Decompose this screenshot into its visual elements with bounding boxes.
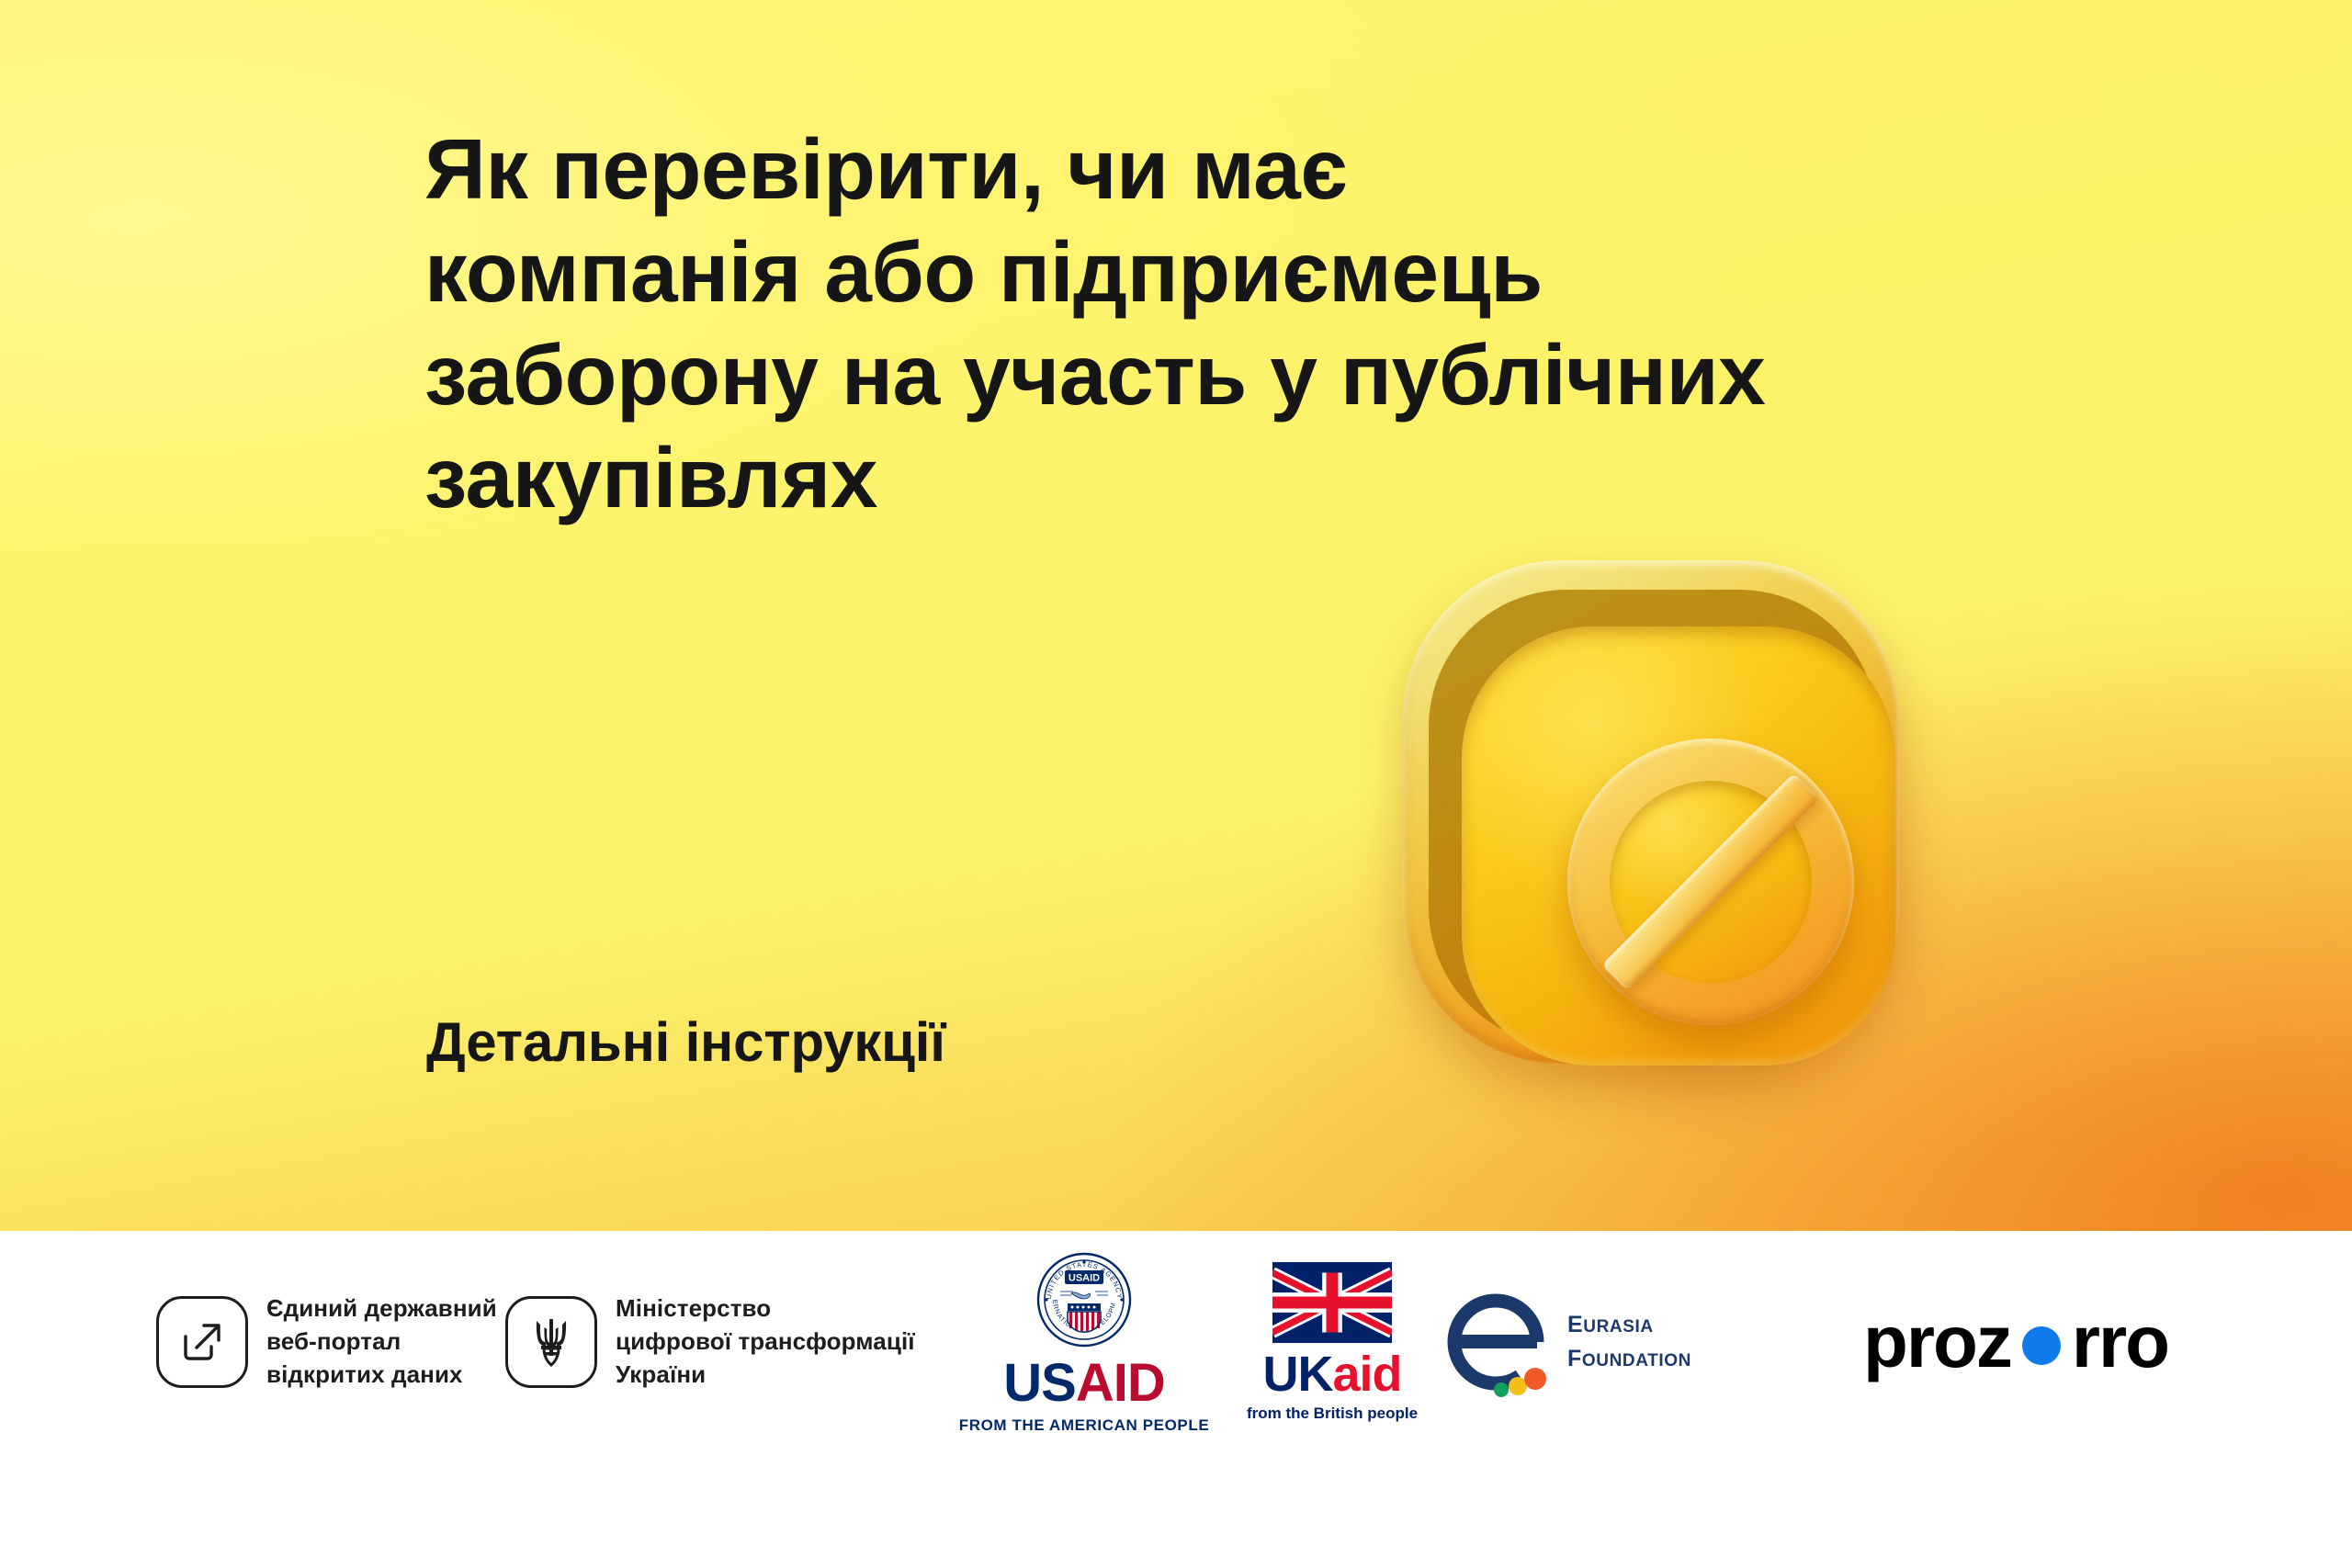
icon-inner-plate <box>1462 626 1895 1066</box>
icon-groove <box>1429 590 1877 1045</box>
logo-usaid[interactable]: UNITED STATES AGENCY INTERNATIONAL DEVEL… <box>946 1250 1222 1435</box>
logo-eurasia-foundation[interactable]: EURASIA FOUNDATION <box>1442 1285 1773 1399</box>
logo-ministry-digital-transformation[interactable]: Міністерство цифрової трансформації Укра… <box>505 1292 946 1392</box>
eurasia-e-mark-icon <box>1442 1285 1551 1399</box>
logo-open-data-portal-label: Єдиний державний веб-портал відкритих да… <box>266 1292 497 1392</box>
prozorro-dot-icon <box>2022 1326 2061 1365</box>
icon-outer-bevel <box>1403 560 1899 1064</box>
logo-open-data-portal[interactable]: Єдиний державний веб-портал відкритих да… <box>156 1292 505 1392</box>
ukaid-word-aid: aid <box>1332 1347 1401 1402</box>
prozorro-word-rro: rro <box>2072 1300 2168 1384</box>
usaid-word-aid: AID <box>1076 1353 1165 1413</box>
external-link-rounded-square-icon <box>156 1296 248 1388</box>
prozorro-wordmark: proz rro <box>1863 1300 2168 1384</box>
svg-text:USAID: USAID <box>1069 1272 1100 1283</box>
eurasia-dot-orange <box>1524 1368 1546 1390</box>
eurasia-line-2: FOUNDATION <box>1567 1342 1691 1377</box>
eurasia-line-1: EURASIA <box>1567 1308 1691 1343</box>
logo-prozorro[interactable]: proz rro <box>1773 1300 2168 1384</box>
prozorro-word-proz: proz <box>1863 1300 2011 1384</box>
logo-ministry-label: Міністерство цифрової трансформації Укра… <box>616 1292 915 1392</box>
prohibition-sign-3d-icon <box>1401 551 1934 1102</box>
union-jack-flag-icon <box>1272 1262 1392 1343</box>
ukaid-tagline: from the British people <box>1247 1404 1418 1423</box>
usaid-tagline: FROM THE AMERICAN PEOPLE <box>959 1416 1210 1435</box>
eurasia-foundation-wordmark: EURASIA FOUNDATION <box>1567 1308 1691 1377</box>
usaid-wordmark: USAID <box>1003 1357 1164 1410</box>
ukraine-trident-icon <box>505 1296 597 1388</box>
banner-root: Як перевірити, чи має компанія або підпр… <box>0 0 2352 1568</box>
page-title: Як перевірити, чи має компанія або підпр… <box>424 118 1950 529</box>
eurasia-dot-yellow <box>1509 1377 1527 1395</box>
usaid-word-us: US <box>1003 1353 1076 1413</box>
hero-section: Як перевірити, чи має компанія або підпр… <box>0 0 2352 1231</box>
eurasia-dot-green <box>1494 1382 1509 1397</box>
ban-badge <box>1567 739 1854 1025</box>
logo-ukaid[interactable]: UKaid from the British people <box>1222 1262 1442 1423</box>
ukaid-wordmark: UKaid <box>1262 1349 1401 1399</box>
usaid-seal-icon: UNITED STATES AGENCY INTERNATIONAL DEVEL… <box>1035 1250 1134 1349</box>
ukaid-word-uk: UK <box>1262 1347 1332 1402</box>
cta-label[interactable]: Детальні інструкції <box>426 1010 945 1074</box>
footer-logo-bar: Єдиний державний веб-портал відкритих да… <box>0 1231 2352 1568</box>
